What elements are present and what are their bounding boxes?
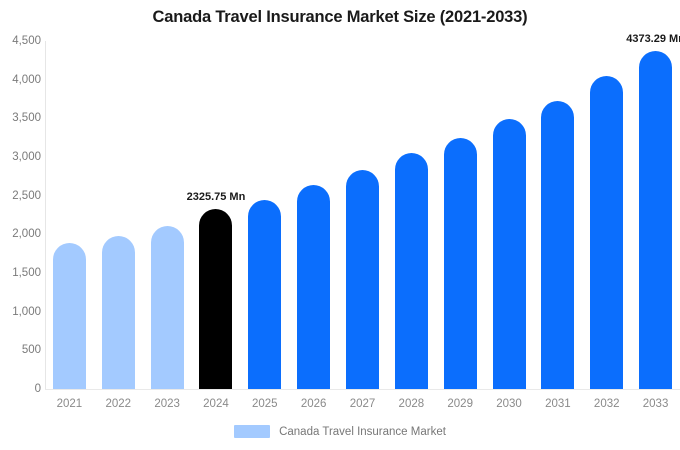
- data-label-2024: 2325.75 Mn: [187, 191, 246, 203]
- x-axis-tick-label: 2021: [57, 398, 83, 410]
- bar-2032[interactable]: [590, 76, 623, 389]
- bar-2022[interactable]: [102, 236, 135, 390]
- bar-2028[interactable]: [395, 153, 428, 389]
- x-axis-tick-label: 2025: [252, 398, 278, 410]
- y-axis-tick-label: 0: [1, 383, 41, 395]
- bar-2031[interactable]: [541, 101, 574, 389]
- chart-title: Canada Travel Insurance Market Size (202…: [0, 8, 680, 27]
- legend-item[interactable]: Canada Travel Insurance Market: [234, 425, 446, 438]
- legend-item-label: Canada Travel Insurance Market: [279, 426, 446, 438]
- x-axis-tick-label: 2030: [496, 398, 522, 410]
- chart-container: Canada Travel Insurance Market Size (202…: [0, 0, 680, 450]
- bar-series: [45, 41, 680, 389]
- bar-2026[interactable]: [297, 185, 330, 389]
- x-axis-tick-label: 2026: [301, 398, 327, 410]
- bar-2025[interactable]: [248, 200, 281, 389]
- x-axis-tick-label: 2028: [399, 398, 425, 410]
- bar-2023[interactable]: [151, 226, 184, 389]
- x-axis-tick-label: 2027: [350, 398, 376, 410]
- bar-2033[interactable]: [639, 51, 672, 389]
- y-axis-tick-label: 4,500: [1, 35, 41, 47]
- x-axis-tick-label: 2029: [447, 398, 473, 410]
- x-axis-tick-label: 2022: [105, 398, 131, 410]
- y-axis-tick-label: 3,500: [1, 112, 41, 124]
- chart-legend: Canada Travel Insurance Market: [0, 425, 680, 438]
- y-axis: 05001,0001,5002,0002,5003,0003,5004,0004…: [0, 0, 41, 450]
- y-axis-tick-label: 1,000: [1, 306, 41, 318]
- y-axis-tick-label: 2,000: [1, 228, 41, 240]
- y-axis-tick-label: 500: [1, 344, 41, 356]
- bar-2024[interactable]: [199, 209, 232, 389]
- legend-swatch-icon: [234, 425, 270, 438]
- y-axis-tick-label: 2,500: [1, 190, 41, 202]
- x-axis-tick-label: 2031: [545, 398, 571, 410]
- bar-2029[interactable]: [444, 138, 477, 389]
- x-axis-tick-label: 2032: [594, 398, 620, 410]
- data-label-2033: 4373.29 Mn: [626, 33, 680, 45]
- bar-2021[interactable]: [53, 243, 86, 389]
- x-axis-line: [45, 389, 680, 390]
- x-axis-tick-label: 2023: [154, 398, 180, 410]
- y-axis-tick-label: 4,000: [1, 74, 41, 86]
- y-axis-tick-label: 3,000: [1, 151, 41, 163]
- bar-2030[interactable]: [493, 119, 526, 389]
- bar-2027[interactable]: [346, 170, 379, 389]
- x-axis-tick-label: 2033: [643, 398, 669, 410]
- x-axis-tick-label: 2024: [203, 398, 229, 410]
- y-axis-tick-label: 1,500: [1, 267, 41, 279]
